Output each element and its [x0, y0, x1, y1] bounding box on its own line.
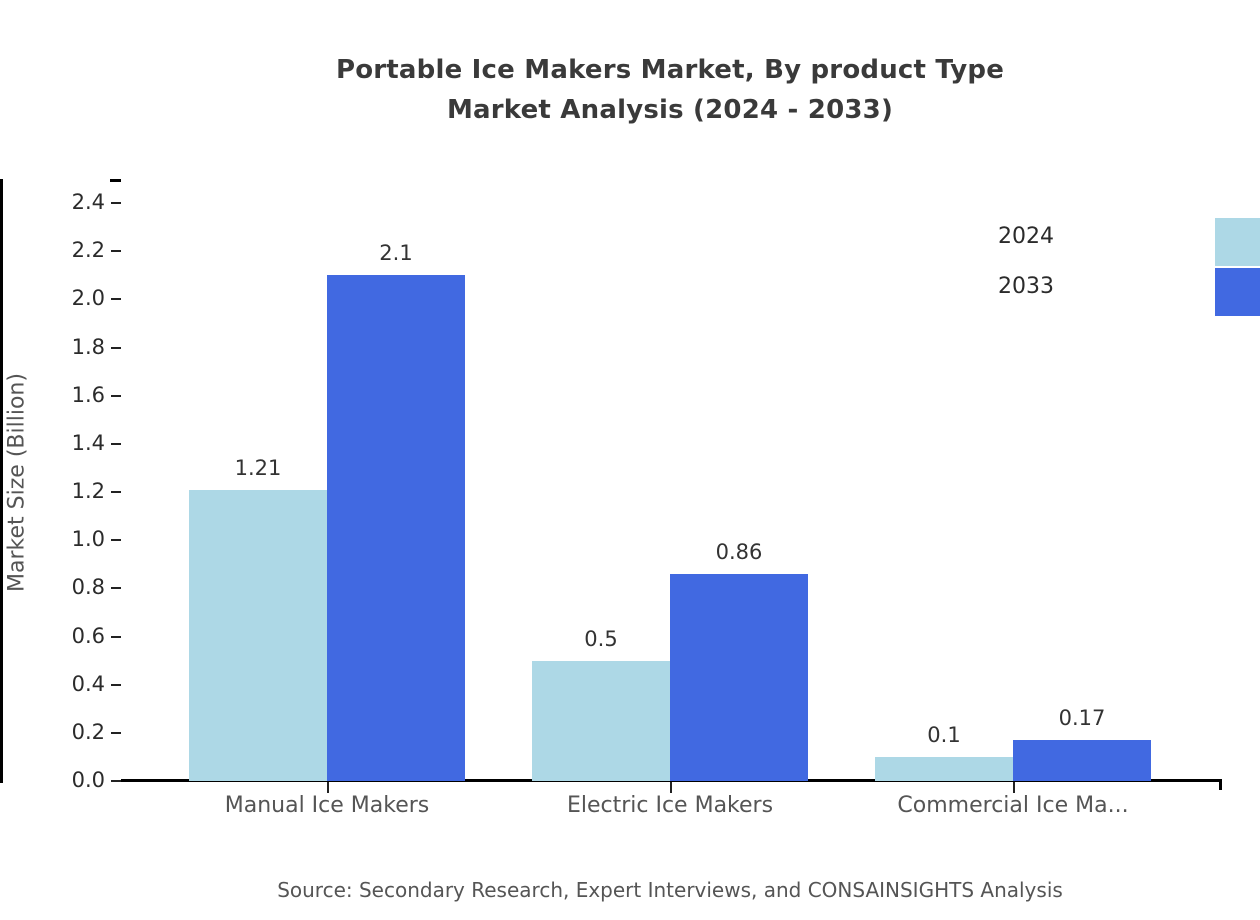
y-tick-label: 1.0: [72, 527, 105, 551]
y-axis-top-cap: [110, 179, 121, 182]
chart-title: Portable Ice Makers Market, By product T…: [0, 50, 1260, 130]
y-tick-mark: [111, 250, 121, 252]
x-tick-mark: [327, 782, 329, 793]
y-tick-label: 1.8: [72, 335, 105, 359]
bar-2024-3[interactable]: [875, 757, 1013, 781]
y-tick-label: 0.0: [72, 768, 105, 792]
y-tick-mark: [111, 347, 121, 349]
x-tick-mark: [1013, 782, 1015, 793]
y-tick-mark: [111, 780, 121, 782]
y-tick-label: 0.2: [72, 720, 105, 744]
y-tick-mark: [111, 587, 121, 589]
y-tick-label: 2.4: [72, 190, 105, 214]
bar-2033-1[interactable]: [327, 275, 465, 781]
x-tick-label: Commercial Ice Ma...: [897, 793, 1128, 818]
y-tick-label: 2.0: [72, 286, 105, 310]
legend-swatch-2024: [1215, 218, 1260, 266]
y-tick-label: 1.2: [72, 479, 105, 503]
y-tick-label: 0.6: [72, 624, 105, 648]
legend-swatch-2033: [1215, 268, 1260, 316]
y-tick-mark: [111, 539, 121, 541]
y-tick-mark: [111, 298, 121, 300]
legend-label-2024: 2024: [998, 224, 1054, 249]
x-axis-right-cap: [1219, 779, 1222, 790]
bar-2033-3[interactable]: [1013, 740, 1151, 781]
bar-2033-2[interactable]: [670, 574, 808, 781]
bar-value-label: 2.1: [379, 241, 412, 265]
y-axis-line: [0, 179, 3, 783]
y-tick-mark: [111, 443, 121, 445]
y-tick-mark: [111, 202, 121, 204]
y-tick-label: 2.2: [72, 238, 105, 262]
bar-chart-figure: Portable Ice Makers Market, By product T…: [0, 0, 1260, 920]
y-axis-title: Market Size (Billion): [5, 133, 30, 833]
x-tick-mark: [670, 782, 672, 793]
x-tick-label: Manual Ice Makers: [225, 793, 430, 818]
y-tick-mark: [111, 395, 121, 397]
bar-value-label: 0.17: [1059, 706, 1106, 730]
bar-value-label: 0.86: [716, 540, 763, 564]
chart-title-line-1: Portable Ice Makers Market, By product T…: [0, 50, 1260, 90]
y-tick-label: 1.4: [72, 431, 105, 455]
y-tick-mark: [111, 732, 121, 734]
y-tick-mark: [111, 684, 121, 686]
bar-2024-1[interactable]: [189, 490, 327, 781]
x-tick-label: Electric Ice Makers: [567, 793, 773, 818]
bar-value-label: 0.5: [584, 627, 617, 651]
bar-value-label: 1.21: [235, 456, 282, 480]
legend-label-2033: 2033: [998, 274, 1054, 299]
y-tick-label: 0.8: [72, 575, 105, 599]
source-note: Source: Secondary Research, Expert Inter…: [0, 878, 1260, 902]
y-tick-mark: [111, 636, 121, 638]
y-tick-mark: [111, 491, 121, 493]
y-tick-label: 0.4: [72, 672, 105, 696]
y-tick-label: 1.6: [72, 383, 105, 407]
bar-value-label: 0.1: [927, 723, 960, 747]
bar-2024-2[interactable]: [532, 661, 670, 781]
chart-title-line-2: Market Analysis (2024 - 2033): [0, 90, 1260, 130]
